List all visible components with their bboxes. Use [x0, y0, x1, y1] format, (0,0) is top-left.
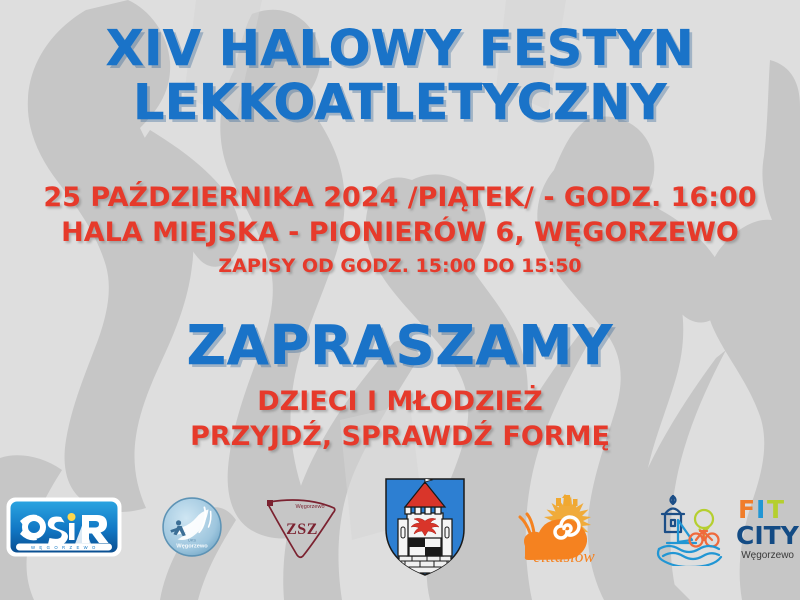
- event-details-block: 25 PAŹDZIERNIKA 2024 /PIĄTEK/ - GODZ. 16…: [0, 180, 800, 281]
- city-wordmark: CITY: [736, 521, 800, 550]
- logo-wegorzewo-coat-of-arms[interactable]: [371, 475, 479, 579]
- invitation-block: ZAPRASZAMY DZIECI I MŁODZIEŻ PRZYJDŹ, SP…: [0, 318, 800, 454]
- invitation-headline: ZAPRASZAMY: [0, 318, 800, 373]
- logo-cittaslow[interactable]: cittaslow: [504, 487, 624, 567]
- logo-fit-city-wegorzewo[interactable]: F I T CITY Węgorzewo: [650, 488, 800, 566]
- logo-zsz-wegorzewo[interactable]: Węgorzewo ZSZ: [257, 493, 345, 561]
- logo-osir-wegorzewo[interactable]: W Ę G O R Z E W O: [0, 496, 128, 558]
- fit-letter-i: I: [756, 495, 765, 524]
- event-registration-hours: ZAPISY OD GODZ. 15:00 DO 15:50: [0, 253, 800, 281]
- zsz-wegorzewo-icon: Węgorzewo ZSZ: [261, 493, 341, 561]
- logo-uks-wegorzewo[interactable]: Węgorzewo UKS: [154, 496, 232, 558]
- cittaslow-wordmark: cittaslow: [534, 547, 596, 566]
- osir-wegorzewo-icon: W Ę G O R Z E W O: [5, 496, 123, 558]
- fit-letter-f: F: [738, 495, 755, 524]
- event-date-time: 25 PAŹDZIERNIKA 2024 /PIĄTEK/ - GODZ. 16…: [0, 180, 800, 215]
- event-poster: XIV HALOWY FESTYN LEKKOATLETYCZNY 25 PAŹ…: [0, 0, 800, 600]
- fit-city-subtitle: Węgorzewo: [741, 550, 794, 561]
- osir-subtitle: W Ę G O R Z E W O: [31, 545, 97, 550]
- cittaslow-snail-icon: cittaslow: [508, 487, 620, 567]
- fit-city-wegorzewo-icon: F I T CITY Węgorzewo: [650, 488, 800, 566]
- invitation-audience: DZIECI I MŁODZIEŻ: [0, 385, 800, 420]
- event-venue-address: HALA MIEJSKA - PIONIERÓW 6, WĘGORZEWO: [0, 215, 800, 250]
- poster-title-block: XIV HALOWY FESTYN LEKKOATLETYCZNY: [0, 24, 800, 128]
- fit-letter-t: T: [767, 495, 784, 524]
- zsz-subtitle: Węgorzewo: [296, 504, 325, 510]
- uks-wegorzewo-icon: Węgorzewo UKS: [161, 496, 223, 558]
- svg-text:UKS: UKS: [188, 537, 196, 542]
- sponsor-logo-strip: W Ę G O R Z E W O: [0, 472, 800, 582]
- zsz-wordmark: ZSZ: [286, 521, 318, 538]
- uks-subtitle: Węgorzewo: [177, 544, 209, 550]
- title-line-2: LEKKOATLETYCZNY: [0, 78, 800, 128]
- title-line-1: XIV HALOWY FESTYN: [0, 24, 800, 74]
- invitation-callout: PRZYJDŹ, SPRAWDŹ FORMĘ: [0, 420, 800, 455]
- wegorzewo-coat-of-arms-icon: [381, 475, 469, 579]
